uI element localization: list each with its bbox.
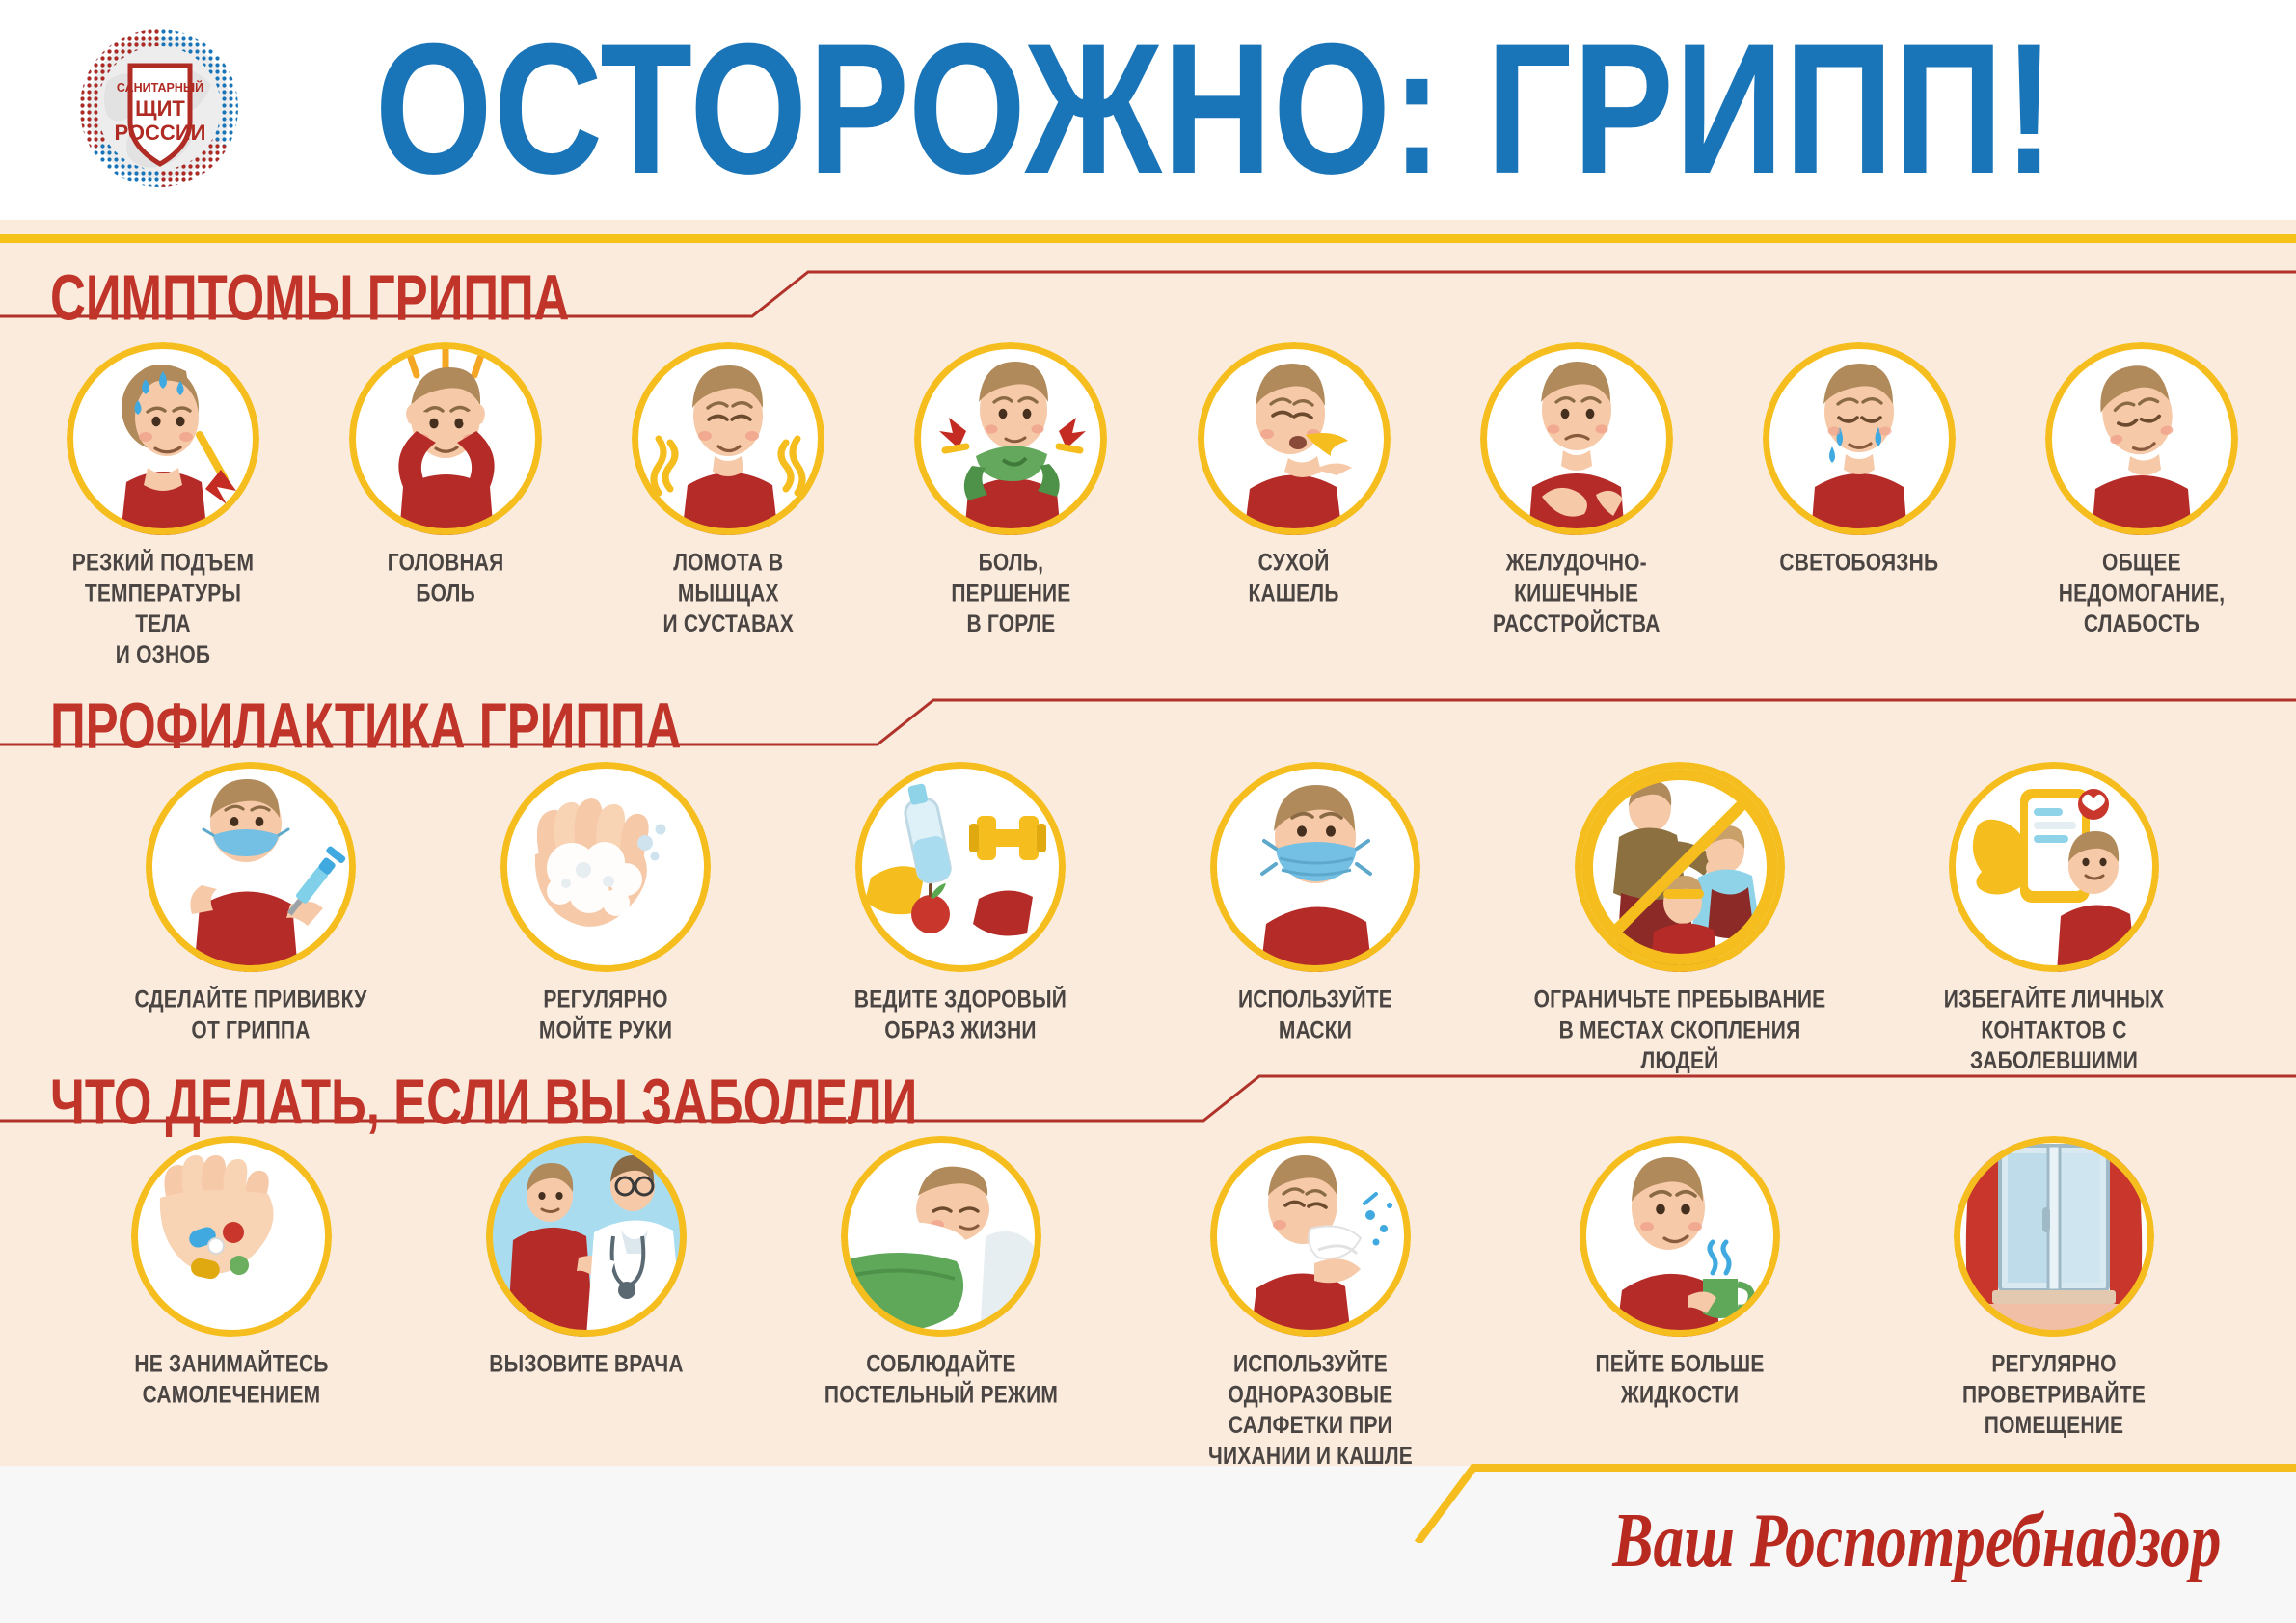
poster-canvas: САНИТАРНЫЙ ЩИТ РОССИИ ОСТОРОЖНО: ГРИПП! …: [0, 0, 2296, 1623]
symptom-card-photophobia: СВЕТОБОЯЗНЬ: [1754, 342, 1964, 653]
avoid-crowds-icon: [1575, 762, 1785, 972]
prevention-label: СДЕЛАЙТЕ ПРИВИВКУ ОТ ГРИППА: [135, 986, 367, 1046]
prevention-label: ИСПОЛЬЗУЙТЕ МАСКИ: [1238, 986, 1392, 1046]
symptom-label: СВЕТОБОЯЗНЬ: [1779, 549, 1938, 580]
prevention-card-wash-hands: РЕГУЛЯРНО МОЙТЕ РУКИ: [461, 762, 750, 1064]
symptom-label: ГОЛОВНАЯ БОЛЬ: [388, 549, 504, 609]
dry-cough-icon: [1198, 342, 1391, 535]
header-divider-rule: [0, 234, 2296, 243]
if-ill-grid: НЕ ЗАНИМАЙТЕСЬ САМОЛЕЧЕНИЕМ: [87, 1136, 2218, 1454]
if-ill-card-bed-rest: СОБЛЮДАЙТЕ ПОСТЕЛЬНЫЙ РЕЖИМ: [797, 1136, 1086, 1454]
sore-throat-icon: [914, 342, 1107, 535]
vaccination-icon: [146, 762, 356, 972]
prevention-card-avoid-contacts: ИЗБЕГАЙТЕ ЛИЧНЫХ КОНТАКТОВ С ЗАБОЛЕВШИМИ: [1900, 762, 2208, 1064]
symptom-card-stomach: ЖЕЛУДОЧНО- КИШЕЧНЫЕ РАССТРОЙСТВА: [1472, 342, 1682, 653]
headache-icon: [349, 342, 542, 535]
prevention-card-healthy-lifestyle: ВЕДИТЕ ЗДОРОВЫЙ ОБРАЗ ЖИЗНИ: [816, 762, 1105, 1064]
fever-chills-icon: [67, 342, 259, 535]
general-weakness-icon: [2045, 342, 2238, 535]
photophobia-icon: [1763, 342, 1956, 535]
if-ill-label: НЕ ЗАНИМАЙТЕСЬ САМОЛЕЧЕНИЕМ: [134, 1350, 328, 1411]
no-self-medication-icon: [131, 1136, 332, 1337]
call-doctor-icon: [486, 1136, 687, 1337]
poster-title: ОСТОРОЖНО: ГРИПП!: [0, 0, 2296, 220]
bed-rest-icon: [841, 1136, 1041, 1337]
symptom-card-dry-cough: СУХОЙ КАШЕЛЬ: [1189, 342, 1399, 653]
symptom-label: ОБЩЕЕ НЕДОМОГАНИЕ, СЛАБОСТЬ: [2059, 549, 2226, 640]
symptom-label: ЖЕЛУДОЧНО- КИШЕЧНЫЕ РАССТРОЙСТВА: [1493, 549, 1661, 640]
drink-fluids-icon: [1580, 1136, 1780, 1337]
symptom-label: РЕЗКИЙ ПОДЪЕМ ТЕМПЕРАТУРЫ ТЕЛА И ОЗНОБ: [58, 549, 268, 671]
prevention-card-avoid-crowds: ОГРАНИЧЬТЕ ПРЕБЫВАНИЕ В МЕСТАХ СКОПЛЕНИЯ…: [1526, 762, 1834, 1064]
symptom-card-weakness: ОБЩЕЕ НЕДОМОГАНИЕ, СЛАБОСТЬ: [2037, 342, 2247, 653]
section-title-prevention: ПРОФИЛАКТИКА ГРИППА: [50, 693, 682, 758]
if-ill-card-drink-fluids: ПЕЙТЕ БОЛЬШЕ ЖИДКОСТИ: [1535, 1136, 1824, 1454]
symptom-label: СУХОЙ КАШЕЛЬ: [1249, 549, 1339, 609]
if-ill-label: РЕГУЛЯРНО ПРОВЕТРИВАЙТЕ ПОМЕЩЕНИЕ: [1890, 1350, 2218, 1442]
healthy-lifestyle-icon: [855, 762, 1066, 972]
muscle-joint-ache-icon: [632, 342, 824, 535]
section-heading-prevention: ПРОФИЛАКТИКА ГРИППА: [0, 681, 2296, 752]
section-heading-symptoms: СИМПТОМЫ ГРИППА: [0, 253, 2296, 324]
section-heading-if-ill: ЧТО ДЕЛАТЬ, ЕСЛИ ВЫ ЗАБОЛЕЛИ: [0, 1057, 2296, 1128]
if-ill-label: СОБЛЮДАЙТЕ ПОСТЕЛЬНЫЙ РЕЖИМ: [824, 1350, 1058, 1411]
prevention-card-vaccination: СДЕЛАЙТЕ ПРИВИВКУ ОТ ГРИППА: [106, 762, 395, 1064]
symptom-label: БОЛЬ, ПЕРШЕНИЕ В ГОРЛЕ: [951, 549, 1070, 640]
symptom-card-muscle-ache: ЛОМОТА В МЫШЦАХ И СУСТАВАХ: [623, 342, 833, 653]
prevention-label: РЕГУЛЯРНО МОЙТЕ РУКИ: [539, 986, 672, 1046]
if-ill-label: ВЫЗОВИТЕ ВРАЧА: [489, 1350, 683, 1381]
prevention-label: ВЕДИТЕ ЗДОРОВЫЙ ОБРАЗ ЖИЗНИ: [854, 986, 1067, 1046]
symptoms-grid: РЕЗКИЙ ПОДЪЕМ ТЕМПЕРАТУРЫ ТЕЛА И ОЗНОБ: [58, 342, 2247, 653]
avoid-contact-icon: [1949, 762, 2159, 972]
ventilate-room-icon: [1954, 1136, 2154, 1337]
stomach-upset-icon: [1480, 342, 1673, 535]
prevention-card-mask: ИСПОЛЬЗУЙТЕ МАСКИ: [1171, 762, 1460, 1064]
wash-hands-icon: [500, 762, 711, 972]
wear-mask-icon: [1210, 762, 1420, 972]
poster-header: САНИТАРНЫЙ ЩИТ РОССИИ ОСТОРОЖНО: ГРИПП!: [0, 0, 2296, 220]
symptom-card-headache: ГОЛОВНАЯ БОЛЬ: [340, 342, 551, 653]
use-tissues-icon: [1210, 1136, 1411, 1337]
footer-signature: Ваш Роспотребнадзор: [1612, 1497, 2221, 1586]
if-ill-card-no-self-medication: НЕ ЗАНИМАЙТЕСЬ САМОЛЕЧЕНИЕМ: [87, 1136, 376, 1454]
symptom-card-sore-throat: БОЛЬ, ПЕРШЕНИЕ В ГОРЛЕ: [905, 342, 1116, 653]
symptom-card-fever: РЕЗКИЙ ПОДЪЕМ ТЕМПЕРАТУРЫ ТЕЛА И ОЗНОБ: [58, 342, 268, 653]
symptom-label: ЛОМОТА В МЫШЦАХ И СУСТАВАХ: [623, 549, 833, 640]
prevention-grid: СДЕЛАЙТЕ ПРИВИВКУ ОТ ГРИППА: [106, 762, 2208, 1064]
if-ill-card-call-doctor: ВЫЗОВИТЕ ВРАЧА: [442, 1136, 731, 1454]
section-title-if-ill: ЧТО ДЕЛАТЬ, ЕСЛИ ВЫ ЗАБОЛЕЛИ: [50, 1069, 917, 1134]
if-ill-card-ventilate: РЕГУЛЯРНО ПРОВЕТРИВАЙТЕ ПОМЕЩЕНИЕ: [1890, 1136, 2218, 1454]
section-title-symptoms: СИМПТОМЫ ГРИППА: [50, 265, 569, 330]
if-ill-card-use-tissues: ИСПОЛЬЗУЙТЕ ОДНОРАЗОВЫЕ САЛФЕТКИ ПРИ ЧИХ…: [1151, 1136, 1470, 1454]
if-ill-label: ПЕЙТЕ БОЛЬШЕ ЖИДКОСТИ: [1595, 1350, 1764, 1411]
poster-title-text: ОСТОРОЖНО: ГРИПП!: [375, 17, 2056, 203]
